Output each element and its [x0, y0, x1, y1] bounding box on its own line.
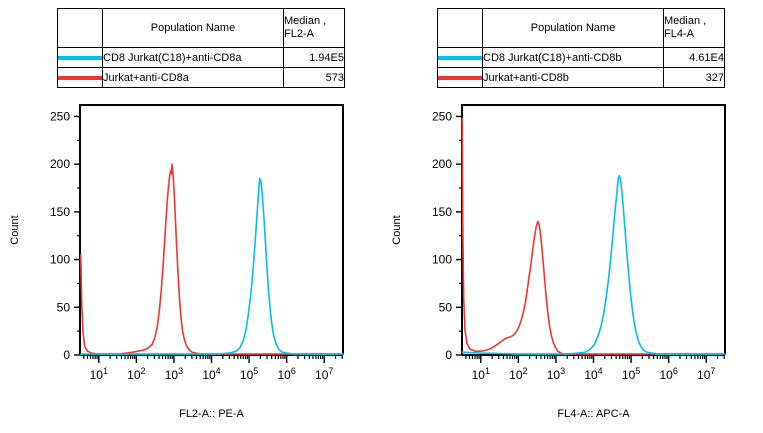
legend-header-swatch [438, 9, 483, 48]
svg-text:101: 101 [472, 366, 490, 382]
svg-text:200: 200 [432, 157, 452, 171]
legend-header-population: Population Name [103, 9, 284, 48]
histogram-svg: 050100150200250101102103104105106107Coun… [0, 96, 381, 433]
svg-text:105: 105 [622, 366, 640, 382]
legend-row-cyan: CD8 Jurkat(C18)+anti-CD8a 1.94E5 [58, 48, 345, 68]
legend-header-row: Population Name Median , FL2-A [58, 9, 345, 48]
panel-fl4-apc: Population Name Median , FL4-A CD8 Jurka… [382, 0, 763, 433]
svg-text:105: 105 [240, 366, 258, 382]
legend-swatch-cell [438, 48, 483, 68]
color-swatch-cyan [58, 56, 102, 60]
legend-swatch-cell [58, 48, 103, 68]
legend-median-value: 327 [664, 68, 725, 88]
legend-median-value: 1.94E5 [284, 48, 345, 68]
svg-text:103: 103 [547, 366, 565, 382]
svg-text:107: 107 [315, 366, 333, 382]
legend-header-population: Population Name [483, 9, 664, 48]
svg-text:FL2-A:: PE-A: FL2-A:: PE-A [179, 408, 244, 420]
legend-population-name: Jurkat+anti-CD8b [483, 68, 664, 88]
svg-text:200: 200 [50, 157, 70, 171]
svg-text:Count: Count [9, 215, 21, 244]
legend-table-left: Population Name Median , FL2-A CD8 Jurka… [57, 8, 345, 88]
svg-text:102: 102 [127, 366, 145, 382]
color-swatch-cyan [438, 56, 482, 60]
svg-text:250: 250 [432, 109, 452, 123]
legend-population-name: Jurkat+anti-CD8a [103, 68, 284, 88]
svg-text:0: 0 [63, 348, 70, 362]
svg-text:106: 106 [277, 366, 295, 382]
legend-swatch-cell [58, 68, 103, 88]
legend-row-red: Jurkat+anti-CD8b 327 [438, 68, 725, 88]
histogram-plot-fl4: 050100150200250101102103104105106107Coun… [382, 96, 763, 433]
svg-text:106: 106 [659, 366, 677, 382]
svg-text:50: 50 [439, 300, 453, 314]
histogram-plot-fl2: 050100150200250101102103104105106107Coun… [0, 96, 381, 433]
legend-population-name: CD8 Jurkat(C18)+anti-CD8a [103, 48, 284, 68]
svg-text:150: 150 [50, 205, 70, 219]
legend-swatch-cell [438, 68, 483, 88]
svg-text:100: 100 [50, 253, 70, 267]
color-swatch-red [58, 76, 102, 80]
legend-table-right: Population Name Median , FL4-A CD8 Jurka… [437, 8, 725, 88]
legend-header-median-line1: Median , [284, 15, 344, 28]
svg-text:150: 150 [432, 205, 452, 219]
svg-text:104: 104 [202, 366, 220, 382]
legend-header-row: Population Name Median , FL4-A [438, 9, 725, 48]
svg-text:0: 0 [445, 348, 452, 362]
svg-text:250: 250 [50, 109, 70, 123]
panel-fl2-pe: Population Name Median , FL2-A CD8 Jurka… [0, 0, 381, 433]
svg-text:102: 102 [509, 366, 527, 382]
svg-text:50: 50 [57, 300, 71, 314]
legend-row-red: Jurkat+anti-CD8a 573 [58, 68, 345, 88]
svg-text:100: 100 [432, 253, 452, 267]
legend-header-median-line1: Median , [664, 15, 724, 28]
legend-row-cyan: CD8 Jurkat(C18)+anti-CD8b 4.61E4 [438, 48, 725, 68]
legend-header-median: Median , FL2-A [284, 9, 345, 48]
legend-header-swatch [58, 9, 103, 48]
svg-text:Count: Count [391, 215, 403, 244]
svg-text:103: 103 [165, 366, 183, 382]
svg-text:101: 101 [90, 366, 108, 382]
svg-text:FL4-A:: APC-A: FL4-A:: APC-A [557, 408, 630, 420]
legend-header-median-line2: FL2-A [284, 28, 344, 41]
legend-header-median: Median , FL4-A [664, 9, 725, 48]
legend-population-name: CD8 Jurkat(C18)+anti-CD8b [483, 48, 664, 68]
histogram-svg: 050100150200250101102103104105106107Coun… [382, 96, 763, 433]
svg-text:104: 104 [584, 366, 602, 382]
legend-median-value: 4.61E4 [664, 48, 725, 68]
svg-text:107: 107 [697, 366, 715, 382]
color-swatch-red [438, 76, 482, 80]
legend-header-median-line2: FL4-A [664, 28, 724, 41]
legend-median-value: 573 [284, 68, 345, 88]
